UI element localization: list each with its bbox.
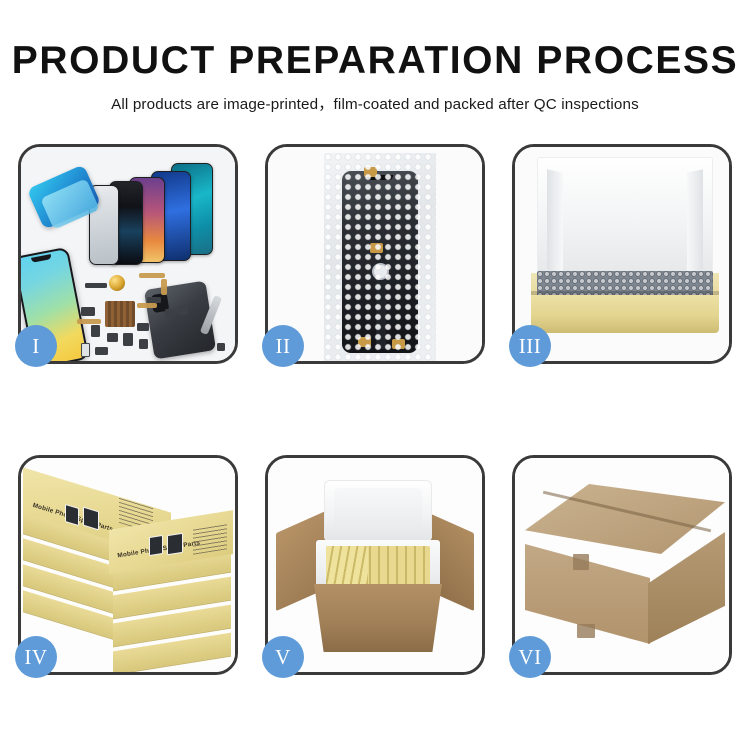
panel-3-image bbox=[515, 147, 729, 361]
process-step-panel-4[interactable]: Mobile Phone Spare Parts Mobile Phone Sp… bbox=[18, 455, 238, 675]
packed-boxes-icon bbox=[326, 546, 368, 588]
product-preparation-process-page: PRODUCT PREPARATION PROCESS All products… bbox=[0, 0, 750, 750]
circuit-board-icon bbox=[105, 301, 135, 327]
step-badge-5: V bbox=[262, 636, 304, 678]
foam-lid-icon bbox=[324, 480, 432, 542]
phone-notch-icon bbox=[31, 254, 52, 263]
process-step-panel-5[interactable]: V bbox=[265, 455, 485, 675]
process-steps-grid: I II bbox=[18, 144, 732, 674]
spare-part-icon bbox=[179, 305, 188, 315]
flex-cable-icon bbox=[137, 303, 157, 308]
spare-part-icon bbox=[81, 343, 90, 357]
box-lid-icon bbox=[537, 157, 713, 273]
panel-4-image: Mobile Phone Spare Parts Mobile Phone Sp… bbox=[21, 458, 235, 672]
box-tray-front-icon bbox=[531, 295, 719, 333]
flex-cable-icon bbox=[139, 273, 165, 278]
box-window-thumbnail bbox=[65, 504, 79, 526]
spare-part-icon bbox=[123, 333, 133, 346]
carton-tape-patch-icon bbox=[577, 624, 595, 638]
process-step-panel-3[interactable]: III bbox=[512, 144, 732, 364]
box-spec-lines bbox=[193, 523, 227, 554]
foam-lid-inner-icon bbox=[334, 488, 422, 532]
step-badge-6: VI bbox=[509, 636, 551, 678]
step-badge-1: I bbox=[15, 325, 57, 367]
spare-part-icon bbox=[91, 325, 100, 337]
page-title: PRODUCT PREPARATION PROCESS bbox=[0, 40, 750, 81]
step-badge-3: III bbox=[509, 325, 551, 367]
process-step-panel-2[interactable]: II bbox=[265, 144, 485, 364]
box-lid-right-flap-icon bbox=[687, 169, 703, 272]
process-step-panel-6[interactable]: VI bbox=[512, 455, 732, 675]
flex-cable-icon bbox=[161, 279, 167, 295]
spare-part-icon bbox=[81, 307, 95, 316]
spare-part-icon bbox=[137, 323, 149, 331]
spare-part-icon bbox=[107, 333, 118, 342]
box-window-thumbnail bbox=[167, 533, 183, 556]
panel-2-image bbox=[268, 147, 482, 361]
flex-cable-icon bbox=[77, 319, 101, 324]
spare-part-icon bbox=[85, 283, 107, 288]
panel-5-image bbox=[268, 458, 482, 672]
step-badge-4: IV bbox=[15, 636, 57, 678]
speaker-module-icon bbox=[109, 275, 125, 291]
carton-body-icon bbox=[310, 584, 446, 652]
panel-1-image bbox=[21, 147, 235, 361]
spare-part-icon bbox=[217, 343, 225, 351]
process-step-panel-1[interactable]: I bbox=[18, 144, 238, 364]
box-lid-left-flap-icon bbox=[547, 169, 563, 272]
header: PRODUCT PREPARATION PROCESS All products… bbox=[0, 40, 750, 114]
box-window-thumbnail bbox=[149, 535, 163, 556]
step-badge-2: II bbox=[262, 325, 304, 367]
page-subtitle: All products are image-printed，film-coat… bbox=[0, 92, 750, 114]
bubble-wrap-bag-icon bbox=[324, 153, 436, 361]
box-stack-icon: Mobile Phone Spare Parts Mobile Phone Sp… bbox=[21, 458, 235, 672]
spare-part-icon bbox=[139, 339, 148, 349]
bubble-texture-overlay bbox=[324, 153, 436, 361]
spare-part-icon bbox=[165, 309, 175, 317]
carton-tape-patch-icon bbox=[573, 554, 589, 570]
spare-part-icon bbox=[95, 347, 108, 355]
panel-6-image bbox=[515, 458, 729, 672]
